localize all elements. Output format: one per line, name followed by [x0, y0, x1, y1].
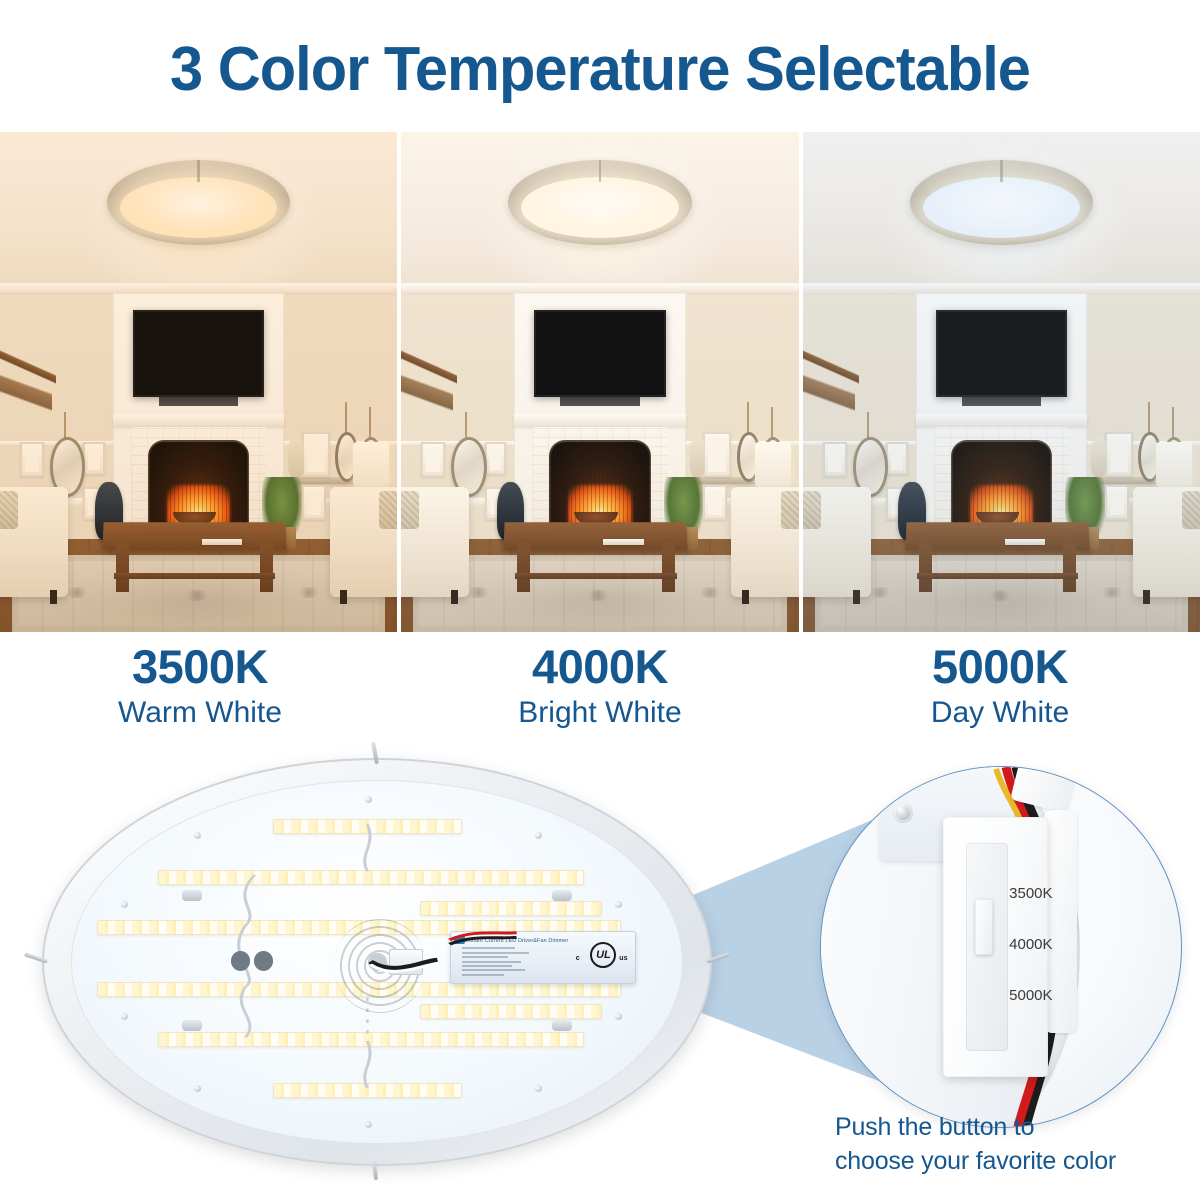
strip-clip	[182, 1020, 202, 1031]
stair-railing	[0, 302, 56, 432]
wall-frame	[485, 442, 507, 475]
sofa-right	[330, 487, 398, 597]
tv-mount	[560, 395, 640, 406]
strip-clip	[552, 1020, 572, 1031]
sofa-right	[731, 487, 799, 597]
lamp-shade	[755, 442, 791, 487]
cct-label-5000k: 5000K Day White	[800, 636, 1200, 742]
cct-label-4000k: 4000K Bright White	[400, 636, 800, 742]
lamp-shade	[353, 442, 389, 487]
room-scene-5000k	[803, 132, 1200, 632]
fixture-lens	[923, 177, 1080, 238]
sofa-right	[1133, 487, 1200, 597]
magazine	[202, 539, 242, 545]
cct-label-row: 3500K Warm White 4000K Bright White 5000…	[0, 636, 1200, 742]
switch-knob[interactable]	[975, 899, 993, 955]
sofa-left	[803, 487, 871, 597]
sofa-left	[0, 487, 68, 597]
lamp-shade	[1156, 442, 1192, 487]
caption-line-2: choose your favorite color	[835, 1144, 1195, 1178]
flower-vase	[690, 437, 706, 477]
coffee-table	[103, 522, 286, 592]
mantel	[916, 414, 1087, 426]
magazine	[1005, 539, 1045, 545]
page-title: 3 Color Temperature Selectable	[24, 34, 1176, 105]
cct-label-3500k: 3500K Warm White	[0, 636, 400, 742]
cct-option-5000k[interactable]: 5000K	[1009, 987, 1055, 1004]
stair-railing	[803, 302, 859, 432]
cct-name: Warm White	[0, 694, 400, 732]
wall-frame	[886, 442, 908, 475]
sofa-left	[401, 487, 469, 597]
cct-selector-switch[interactable]: 3500K 4000K 5000K	[943, 817, 1047, 1076]
mantel	[514, 414, 685, 426]
magazine	[603, 539, 643, 545]
ceiling-light-fixture	[508, 160, 691, 245]
cct-option-4000k[interactable]: 4000K	[1009, 936, 1055, 953]
fixture-seam	[599, 160, 601, 182]
wall-frame	[83, 442, 105, 475]
instruction-caption: Push the button to choose your favorite …	[835, 1110, 1195, 1178]
wall-frame	[1105, 485, 1129, 520]
driver-leads	[72, 781, 681, 1142]
wall-frame	[302, 432, 330, 477]
caption-line-1: Push the button to	[835, 1110, 1195, 1144]
tv-mount	[962, 395, 1041, 406]
room-scene-3500k	[0, 132, 397, 632]
wall-frame	[1105, 432, 1133, 477]
fixture-lens	[521, 177, 678, 238]
wall-frame	[703, 485, 727, 520]
flower-vase	[1091, 437, 1107, 477]
stair-railing	[401, 302, 457, 432]
fixture-lens	[120, 177, 277, 238]
magnified-switch-view: 3500K 4000K 5000K	[820, 766, 1182, 1128]
fixture-seam	[1000, 160, 1002, 182]
tv-mount	[159, 395, 238, 406]
cct-option-3500k[interactable]: 3500K	[1009, 885, 1055, 902]
cct-name: Bright White	[400, 694, 800, 732]
strip-clip	[552, 890, 572, 901]
coffee-table	[906, 522, 1089, 592]
room-comparison-strip	[0, 132, 1200, 632]
wall-frame	[302, 485, 326, 520]
cct-kelvin: 3500K	[0, 642, 400, 692]
switch-track[interactable]	[966, 843, 1008, 1050]
coffee-table	[504, 522, 687, 592]
flower-vase	[288, 437, 304, 477]
product-infographic: 3 Color Temperature Selectable	[0, 0, 1200, 1200]
cct-name: Day White	[800, 694, 1200, 732]
ceiling-light-fixture	[107, 160, 290, 245]
strip-clip	[182, 890, 202, 901]
television	[534, 310, 665, 398]
room-scene-4000k	[401, 132, 799, 632]
television	[936, 310, 1067, 398]
wall-frame	[703, 432, 731, 477]
television	[133, 310, 264, 398]
ceiling-light-fixture	[910, 160, 1093, 245]
cct-kelvin: 4000K	[400, 642, 800, 692]
cct-option-marks: 3500K 4000K 5000K	[1009, 885, 1055, 1004]
fixture-seam	[197, 160, 199, 182]
fixture-reflector: Constant Current LED Driver&Fan Dimmer U…	[71, 780, 682, 1143]
mantel	[113, 414, 284, 426]
light-fixture-interior: Constant Current LED Driver&Fan Dimmer U…	[42, 758, 712, 1166]
cct-kelvin: 5000K	[800, 642, 1200, 692]
